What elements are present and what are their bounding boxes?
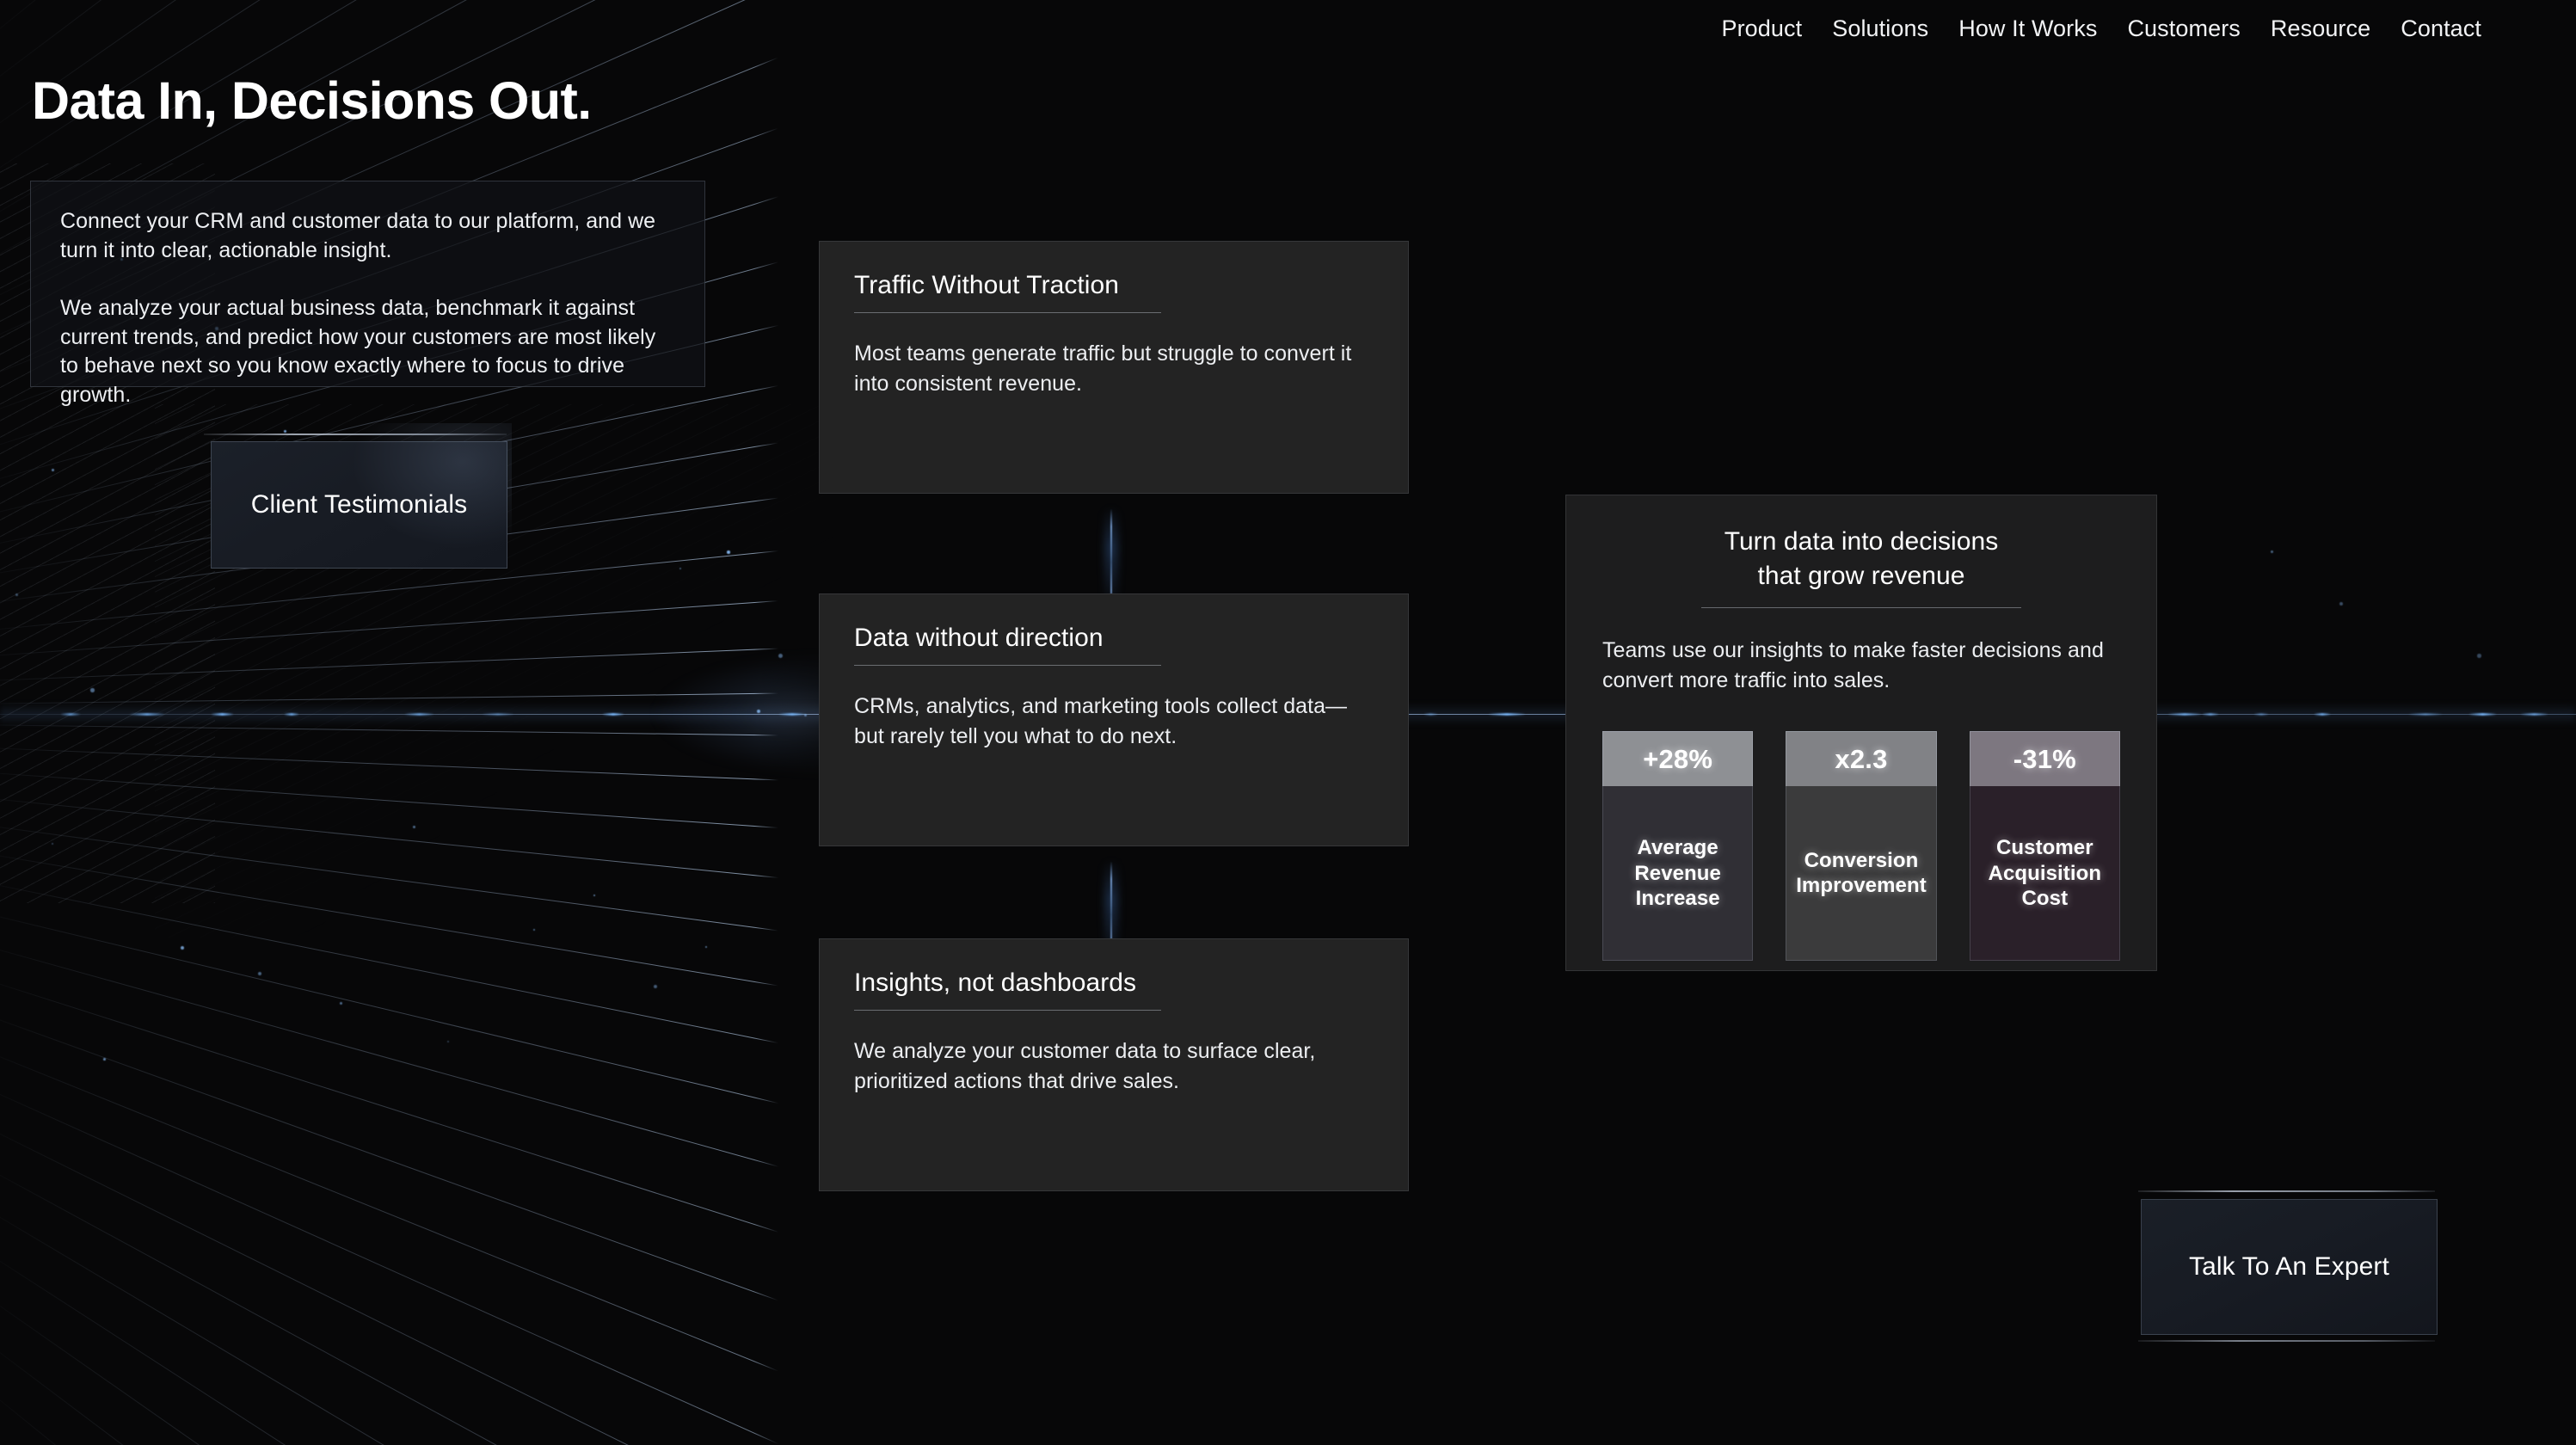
stat-tile-cac-value: -31% (1970, 731, 2120, 786)
nav-item-solutions[interactable]: Solutions (1832, 15, 1928, 42)
problem-card-traffic-body: Most teams generate traffic but struggle… (854, 339, 1374, 398)
problem-card-data-direction-rule (854, 665, 1161, 666)
stat-tile-cac[interactable]: -31% Customer Acquisition Cost (1970, 731, 2120, 961)
nav-item-contact[interactable]: Contact (2401, 15, 2481, 42)
problem-card-traffic-rule (854, 312, 1161, 313)
stats-panel-title-line-1: Turn data into decisions (1602, 525, 2120, 559)
intro-paragraph-2: We analyze your actual business data, be… (60, 294, 675, 409)
problem-card-traffic[interactable]: Traffic Without Traction Most teams gene… (819, 241, 1409, 494)
cta-accent-line-top (2138, 1190, 2435, 1192)
intro-paragraph-1: Connect your CRM and customer data to ou… (60, 207, 675, 265)
problem-card-data-direction-title: Data without direction (854, 624, 1104, 665)
stats-panel-subtitle: Teams use our insights to make faster de… (1602, 636, 2120, 695)
talk-to-an-expert-label: Talk To An Expert (2189, 1252, 2389, 1282)
problem-card-insights[interactable]: Insights, not dashboards We analyze your… (819, 938, 1409, 1191)
talk-to-an-expert-button[interactable]: Talk To An Expert (2141, 1199, 2438, 1335)
problem-card-insights-rule (854, 1010, 1161, 1011)
stats-panel-rule (1701, 607, 2021, 608)
problem-card-insights-title: Insights, not dashboards (854, 968, 1136, 1010)
client-testimonials-card[interactable]: Client Testimonials (211, 441, 507, 569)
stat-tile-conversion-label: Conversion Improvement (1786, 786, 1936, 961)
funnel-fade-bottom (0, 1239, 860, 1445)
stat-tile-cac-label: Customer Acquisition Cost (1970, 786, 2120, 961)
stats-panel-title-line-2: that grow revenue (1602, 559, 2120, 593)
nav-item-how-it-works[interactable]: How It Works (1958, 15, 2097, 42)
stat-tile-conversion-value: x2.3 (1786, 731, 1936, 786)
stat-tile-revenue-label: Average Revenue Increase (1602, 786, 1753, 961)
stat-tile-revenue[interactable]: +28% Average Revenue Increase (1602, 731, 1753, 961)
stats-panel-title: Turn data into decisions that grow reven… (1602, 525, 2120, 593)
nav-item-customers[interactable]: Customers (2127, 15, 2240, 42)
stats-panel: Turn data into decisions that grow reven… (1565, 495, 2157, 971)
problem-card-data-direction[interactable]: Data without direction CRMs, analytics, … (819, 593, 1409, 846)
page-root: Product Solutions How It Works Customers… (0, 0, 2576, 1445)
connector-glow-1 (1105, 507, 1117, 607)
stat-tile-conversion[interactable]: x2.3 Conversion Improvement (1786, 731, 1936, 961)
nav-item-resource[interactable]: Resource (2271, 15, 2370, 42)
stat-tile-revenue-value: +28% (1602, 731, 1753, 786)
nav-item-product[interactable]: Product (1721, 15, 1802, 42)
main-navigation[interactable]: Product Solutions How It Works Customers… (1721, 15, 2481, 42)
problem-card-data-direction-body: CRMs, analytics, and marketing tools col… (854, 692, 1374, 751)
client-testimonials-label: Client Testimonials (251, 490, 467, 520)
hero-intro-box: Connect your CRM and customer data to ou… (30, 181, 705, 387)
testimonials-accent-line (204, 433, 507, 435)
stat-tiles: +28% Average Revenue Increase x2.3 Conve… (1602, 731, 2120, 961)
page-title: Data In, Decisions Out. (32, 71, 592, 131)
problem-card-insights-body: We analyze your customer data to surface… (854, 1036, 1374, 1096)
cta-accent-line-bottom (2138, 1340, 2435, 1342)
card-connector-1 (1110, 509, 1112, 606)
problem-card-traffic-title: Traffic Without Traction (854, 271, 1119, 312)
